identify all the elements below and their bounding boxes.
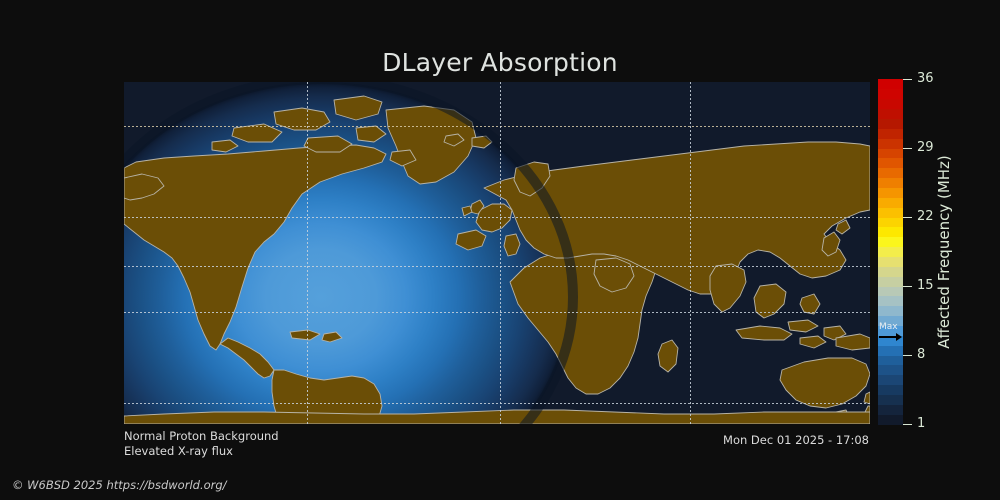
colorbar-band [878,355,903,365]
colorbar-band [878,306,903,316]
colorbar-band [878,148,903,158]
colorbar-band [878,394,903,404]
colorbar-max-marker: Max [878,322,903,346]
colorbar-band [878,227,903,237]
status-line-2: Elevated X-ray flux [124,444,279,459]
colorbar-tick [903,148,912,149]
colorbar-band [878,266,903,276]
colorbar-band [878,365,903,375]
colorbar-band [878,79,903,89]
max-marker-arrow-icon [878,332,903,342]
colorbar-band [878,178,903,188]
colorbar-tick-label: 1 [917,416,925,431]
colorbar-tick [903,286,912,287]
colorbar-band [878,404,903,414]
colorbar-band [878,385,903,395]
colorbar-band [878,168,903,178]
colorbar-tick [903,79,912,80]
colorbar-band [878,276,903,286]
colorbar-band [878,89,903,99]
map-canvas [124,82,870,424]
world-map[interactable] [124,82,870,424]
page-title: DLayer Absorption [0,48,1000,77]
status-line-1: Normal Proton Background [124,429,279,444]
colorbar-band [878,158,903,168]
colorbar-tick [903,217,912,218]
colorbar-band [878,247,903,257]
colorbar-band [878,118,903,128]
colorbar-band [878,187,903,197]
colorbar-band [878,138,903,148]
colorbar-band [878,207,903,217]
colorbar-band [878,296,903,306]
colorbar-tick [903,424,912,425]
colorbar-band [878,99,903,109]
colorbar-band [878,128,903,138]
timestamp: Mon Dec 01 2025 - 17:08 [723,433,869,447]
colorbar-tick [903,355,912,356]
footer-credit: © W6BSD 2025 https://bsdworld.org/ [12,478,227,492]
colorbar-band [878,217,903,227]
status-captions: Normal Proton Background Elevated X-ray … [124,429,279,459]
colorbar-band [878,414,903,424]
colorbar-band [878,197,903,207]
colorbar-tick-label: 8 [917,347,925,362]
colorbar-axis-label-text: Affected Frequency (MHz) [935,155,953,349]
colorbar-band [878,375,903,385]
colorbar-axis-label: Affected Frequency (MHz) [929,79,959,424]
colorbar-band [878,256,903,266]
colorbar-band [878,109,903,119]
colorbar-band [878,286,903,296]
dlayer-absorption-page: DLayer Absorption [0,0,1000,500]
colorbar-band [878,237,903,247]
max-marker-label: Max [878,322,903,332]
colorbar-band [878,345,903,355]
colorbar[interactable] [878,79,903,424]
